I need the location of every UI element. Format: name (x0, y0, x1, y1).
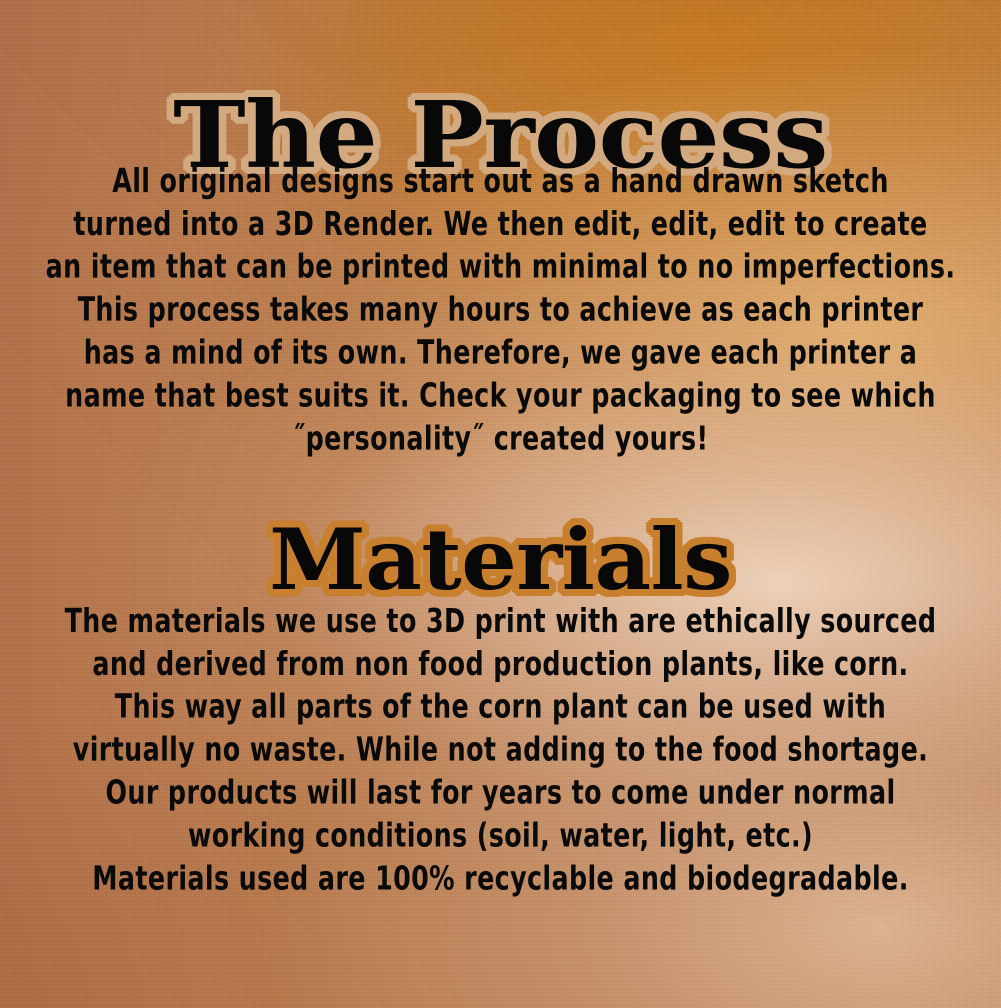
paragraph-process-line-6: name that best suits it. Check your pack… (30, 375, 971, 418)
paragraph-materials-line-3: This way all parts of the corn plant can… (30, 686, 971, 729)
paragraph-process-line-1: All original designs start out as a hand… (30, 160, 971, 203)
paragraph-materials-line-6: working conditions (soil, water, light, … (30, 815, 971, 858)
paragraph-materials-line-2: and derived from non food production pla… (30, 643, 971, 686)
paragraph-process: All original designs start out as a hand… (30, 160, 971, 460)
paragraph-process-line-4: This process takes many hours to achieve… (30, 289, 971, 332)
paragraph-process-line-2: turned into a 3D Render. We then edit, e… (30, 203, 971, 246)
paragraph-process-line-7: ˝personality˝ created yours! (30, 417, 971, 460)
paragraph-materials-line-4: virtually no waste. While not adding to … (30, 729, 971, 772)
paragraph-materials-line-5: Our products will last for years to come… (30, 772, 971, 815)
poster-content: The Process All original designs start o… (0, 0, 1001, 1008)
paragraph-materials: The materials we use to 3D print with ar… (30, 600, 971, 900)
paragraph-process-line-5: has a mind of its own. Therefore, we gav… (30, 332, 971, 375)
paragraph-materials-line-7: Materials used are 100% recyclable and b… (30, 857, 971, 900)
heading-materials: Materials (0, 518, 1001, 602)
poster-canvas: The Process All original designs start o… (0, 0, 1001, 1008)
paragraph-materials-line-1: The materials we use to 3D print with ar… (30, 600, 971, 643)
paragraph-process-line-3: an item that can be printed with minimal… (30, 246, 971, 289)
